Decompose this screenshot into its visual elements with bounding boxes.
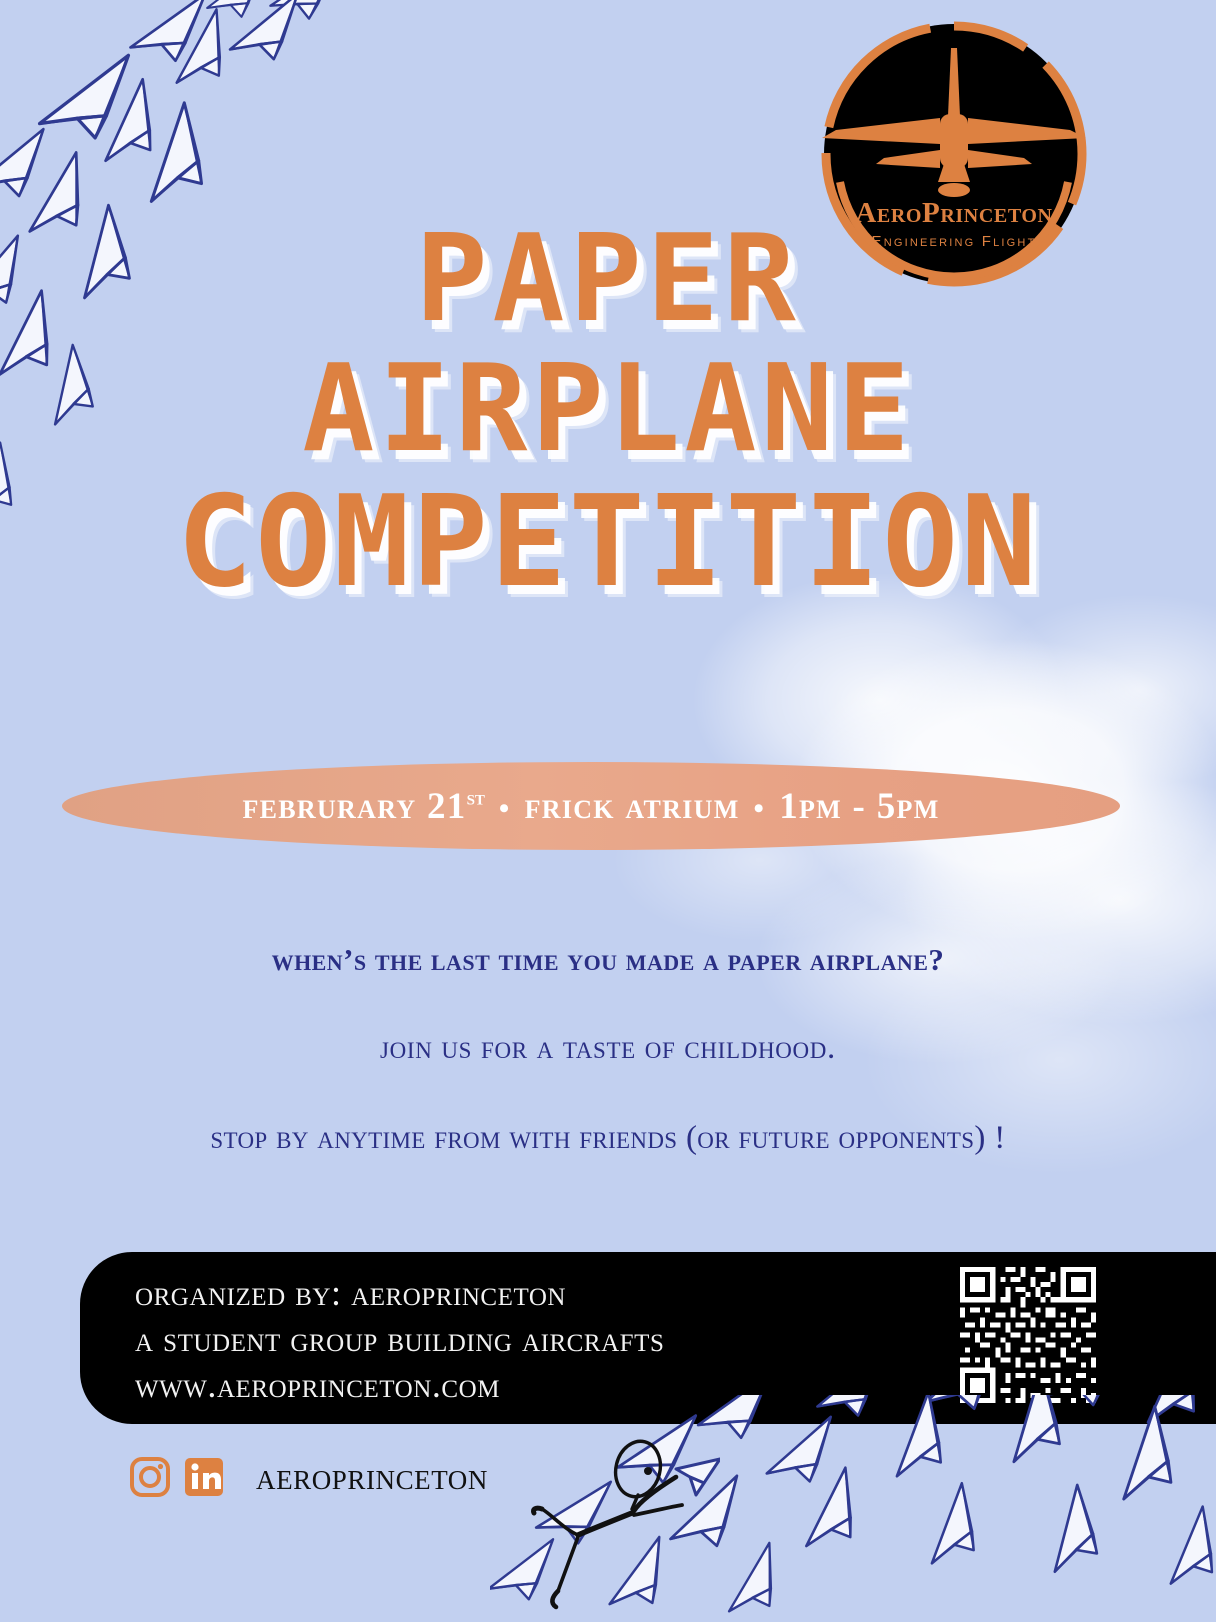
event-date: Februrary 21 [242,786,466,827]
body-question: When’s the last time you made a paper ai… [0,942,1216,978]
organizer-footer-text: Organized by: AeroPrinceton A student gr… [135,1270,664,1408]
social-handle: AeroPrinceton [256,1455,488,1499]
event-details-text: Februrary 21st•Frick Atrium•1pm - 5pm [242,785,939,828]
social-links-row: AeroPrinceton [130,1455,488,1499]
separator-dot-1: • [485,793,525,825]
stick-figure-throwing-plane [520,1425,720,1615]
poster-title: PAPER AIRPLANE COMPETITION [0,222,1216,603]
title-line-competition: COMPETITION [0,481,1216,603]
instagram-icon[interactable] [130,1457,170,1497]
footer-organizer: Organized by: AeroPrinceton [135,1270,664,1316]
body-invite: Join us for a taste of childhood. [0,1030,1216,1067]
poster-canvas: AeroPrinceton Engineering Flight PAPER A… [0,0,1216,1622]
footer-website[interactable]: www.aeroprinceton.com [135,1362,664,1408]
body-callout: Stop by anytime from with friends (or fu… [0,1120,1216,1157]
event-location: Frick Atrium [525,786,740,827]
event-details-banner: Februrary 21st•Frick Atrium•1pm - 5pm [62,762,1120,850]
separator-dot-2: • [740,793,780,825]
title-line-paper: PAPER [0,222,1216,338]
thrown-paper-plane [676,1459,720,1495]
event-date-suffix: st [467,785,485,809]
footer-description: A student group building aircrafts [135,1316,664,1362]
title-line-airplane: AIRPLANE [0,352,1216,468]
linkedin-icon[interactable] [184,1457,224,1497]
event-time: 1pm - 5pm [779,786,939,827]
qr-code[interactable] [955,1262,1101,1408]
